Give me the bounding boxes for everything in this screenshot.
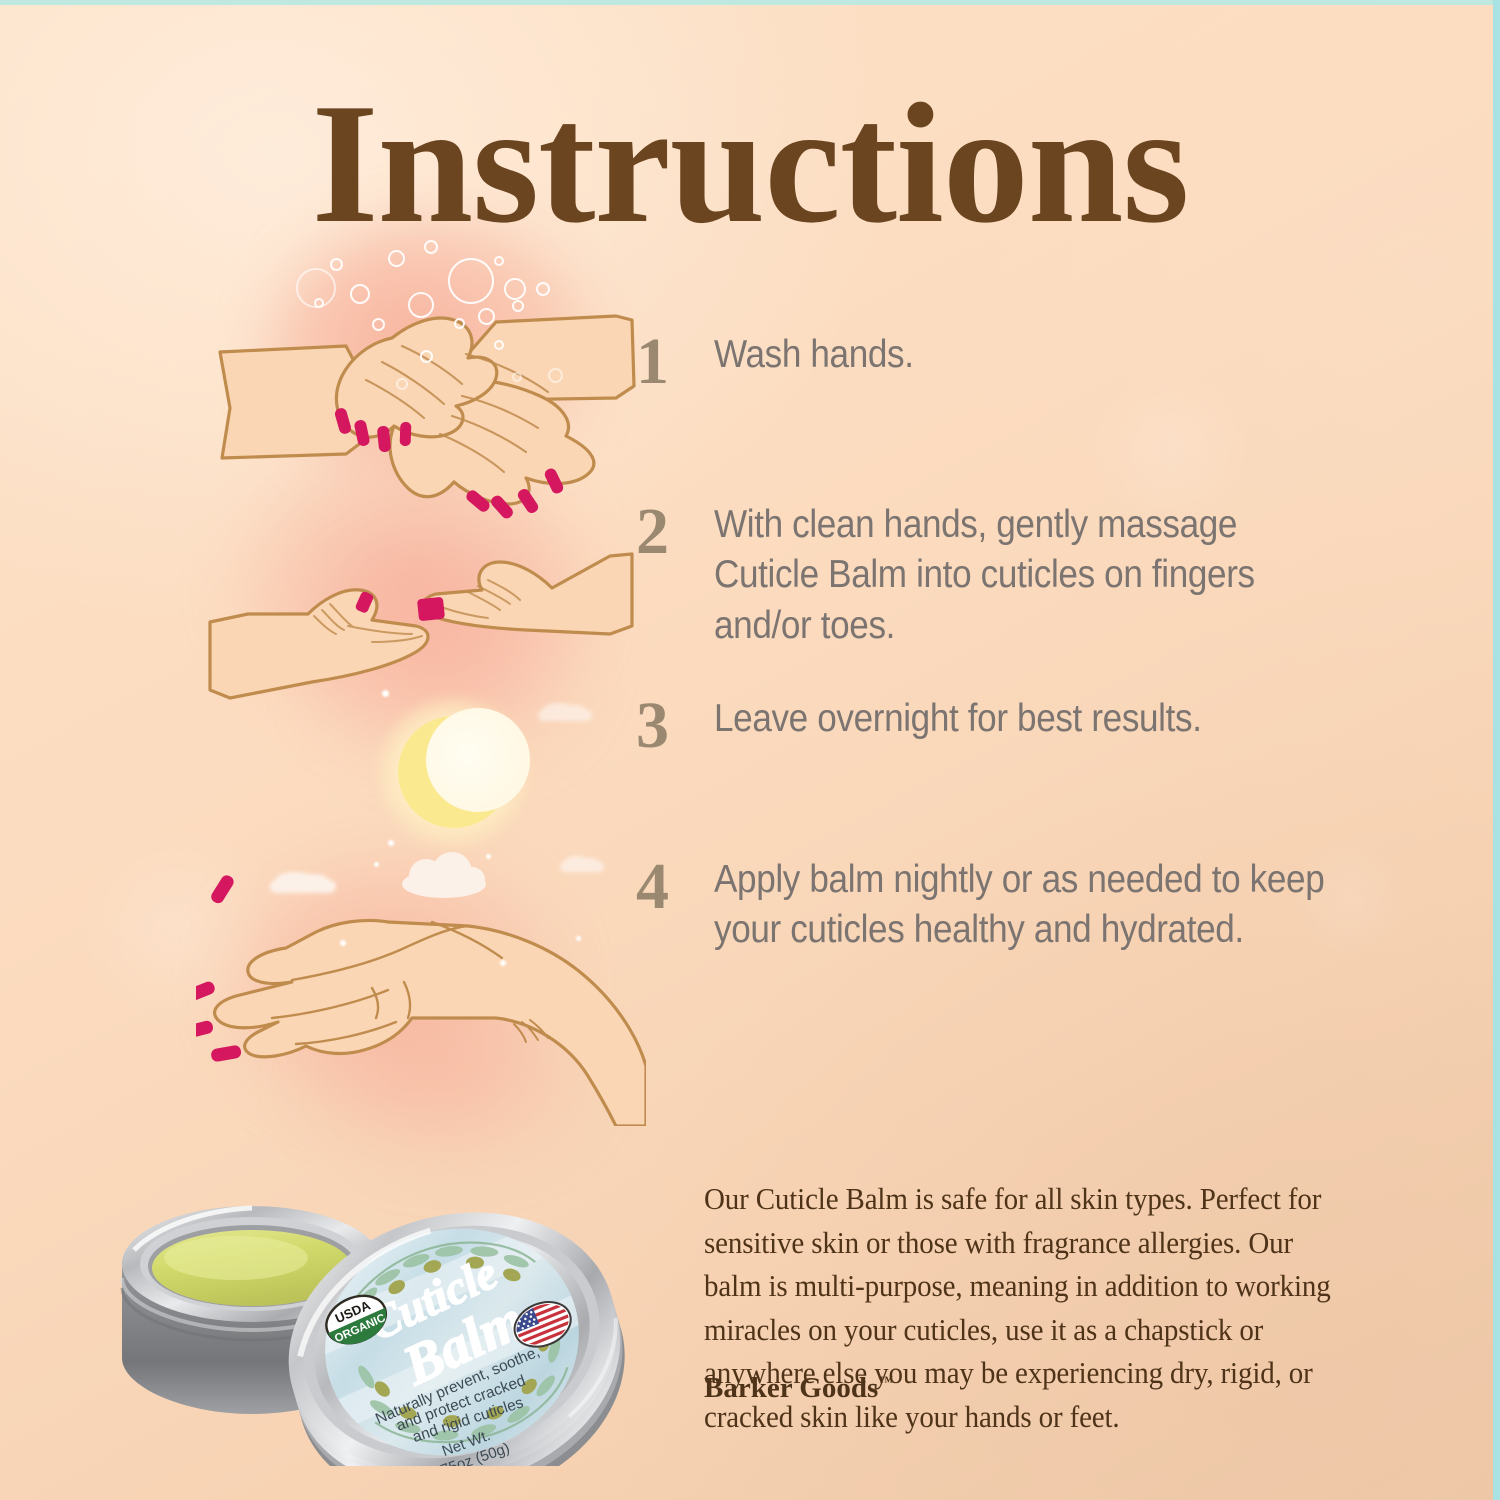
instruction-step: 1 Wash hands. bbox=[636, 330, 1396, 393]
step-text: Leave overnight for best results. bbox=[714, 694, 1328, 745]
step-number: 2 bbox=[636, 500, 714, 563]
soap-bubble bbox=[448, 258, 494, 304]
soap-bubble bbox=[512, 372, 522, 382]
soap-bubble bbox=[494, 340, 504, 350]
soap-bubble bbox=[372, 318, 385, 331]
cloud-icon bbox=[538, 710, 592, 721]
soap-bubble bbox=[396, 378, 408, 390]
sparkle-icon bbox=[340, 940, 346, 946]
product-instructions-poster: Instructions bbox=[0, 0, 1500, 1500]
relaxed-hand-illustration bbox=[196, 846, 646, 1126]
step-number: 3 bbox=[636, 694, 714, 757]
step-text: With clean hands, gently massage Cuticle… bbox=[714, 500, 1328, 652]
soap-bubble bbox=[536, 282, 550, 296]
soap-bubble bbox=[548, 368, 563, 383]
soap-bubble bbox=[330, 258, 343, 271]
step-number: 4 bbox=[636, 855, 714, 918]
soap-bubble bbox=[408, 292, 434, 318]
soap-bubble bbox=[350, 284, 370, 304]
instruction-steps-list: 1 Wash hands. 2 With clean hands, gently… bbox=[636, 330, 1396, 956]
product-tin-image: Cuticle Balm Naturally prevent, soothe, … bbox=[104, 1146, 684, 1466]
instruction-step: 3 Leave overnight for best results. bbox=[636, 694, 1396, 757]
soap-bubble bbox=[504, 278, 526, 300]
step-number: 1 bbox=[636, 330, 714, 393]
soap-bubble bbox=[478, 308, 495, 325]
soap-bubble bbox=[314, 298, 324, 308]
step-text: Wash hands. bbox=[714, 330, 1328, 381]
page-title: Instructions bbox=[0, 78, 1500, 250]
instruction-step: 2 With clean hands, gently massage Cutic… bbox=[636, 500, 1396, 652]
top-edge-strip bbox=[0, 0, 1500, 5]
sparkle-icon bbox=[382, 690, 389, 697]
sparkle-icon bbox=[500, 960, 506, 966]
soap-bubble bbox=[512, 300, 524, 312]
sparkle-icon bbox=[576, 936, 581, 941]
brand-name: Barker Goods™ bbox=[704, 1372, 893, 1405]
instruction-step: 4 Apply balm nightly or as needed to kee… bbox=[636, 855, 1396, 956]
step-text: Apply balm nightly or as needed to keep … bbox=[714, 855, 1328, 956]
sparkle-icon bbox=[388, 840, 394, 846]
soap-bubble bbox=[420, 350, 433, 363]
right-edge-strip bbox=[1493, 0, 1500, 1500]
cloud-icon bbox=[560, 862, 604, 872]
trademark-symbol: ™ bbox=[878, 1374, 893, 1390]
brand-label: Barker Goods bbox=[704, 1372, 878, 1404]
crescent-moon-icon bbox=[378, 698, 528, 848]
cloud-icon bbox=[270, 880, 336, 893]
sparkle-icon bbox=[486, 854, 491, 859]
sparkle-icon bbox=[374, 862, 379, 867]
soap-bubble bbox=[454, 318, 465, 329]
